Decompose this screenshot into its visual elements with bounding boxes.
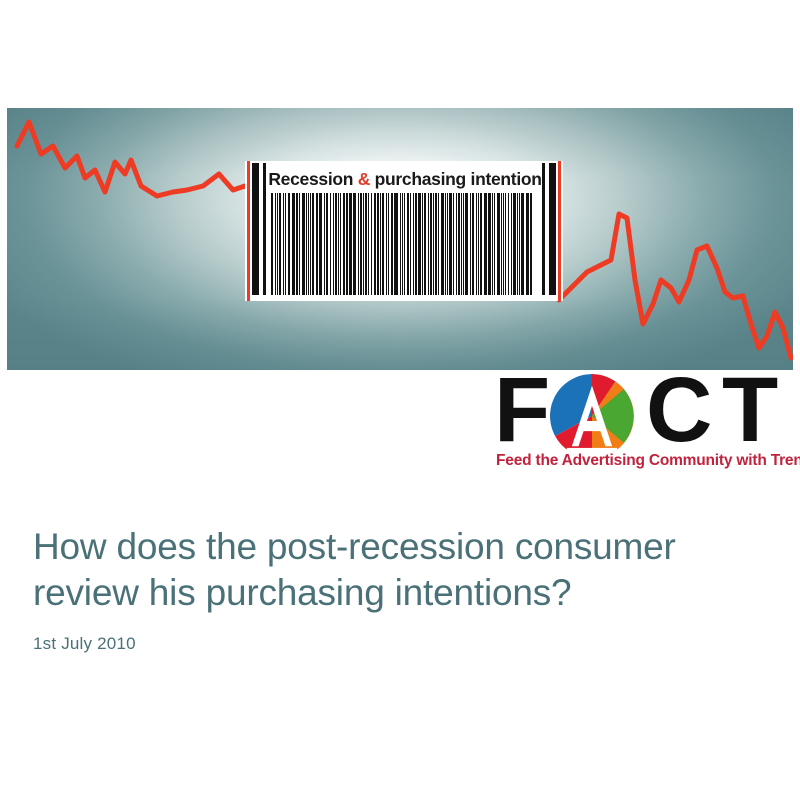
barcode-bar [456, 193, 457, 295]
barcode-bar [492, 193, 493, 295]
barcode-bar [517, 193, 518, 295]
barcode-bar [418, 193, 421, 295]
barcode-bar [293, 193, 295, 295]
barcode-bar [277, 193, 278, 295]
barcode-bar [382, 193, 384, 295]
barcode-bar [435, 193, 437, 295]
barcode-bars [271, 193, 537, 295]
barcode-bar [519, 193, 520, 295]
barcode-bar [488, 193, 491, 295]
barcode-bar [292, 193, 293, 295]
fact-wordmark: F C T [494, 370, 794, 450]
barcode-bar [527, 193, 529, 295]
barcode-caption: Recession & purchasing intention [267, 166, 543, 192]
fact-letter-c: C [646, 364, 710, 456]
recession-banner: Recession & purchasing intention [7, 108, 793, 370]
barcode-bar [283, 193, 284, 295]
barcode-bar [402, 193, 403, 295]
fact-a-circle-mark [550, 374, 634, 458]
barcode-bar [285, 193, 286, 295]
barcode-bar [330, 193, 331, 295]
barcode-bar [465, 193, 468, 295]
barcode-bar [400, 193, 401, 295]
barcode-bar [324, 193, 325, 295]
barcode-bar [497, 193, 499, 295]
barcode-bar [433, 193, 434, 295]
barcode-bar [458, 193, 460, 295]
barcode-bar [470, 193, 471, 295]
barcode-bar [368, 193, 369, 295]
barcode-guard-left [252, 163, 259, 295]
barcode-bar [299, 193, 300, 295]
barcode-bar [319, 193, 320, 295]
barcode-bar [335, 193, 337, 295]
barcode-bar [503, 193, 504, 295]
fact-tagline: Feed the Advertising Community with Tren… [496, 452, 800, 470]
barcode-bar [480, 193, 482, 295]
barcode-caption-suffix: purchasing intention [370, 169, 542, 189]
barcode-bar [338, 193, 339, 295]
barcode-bar [395, 193, 398, 295]
barcode-bar [441, 193, 444, 295]
barcode-bar [302, 193, 305, 295]
barcode-bar [410, 193, 411, 295]
barcode-bar [271, 193, 273, 295]
barcode-bar [428, 193, 429, 295]
barcode-bar [374, 193, 377, 295]
barcode-graphic: Recession & purchasing intention [245, 161, 563, 301]
barcode-bar [343, 193, 345, 295]
barcode-bar [447, 193, 448, 295]
title-block: How does the post-recession consumer rev… [33, 524, 753, 655]
fact-letter-f: F [494, 364, 548, 456]
barcode-bar [508, 193, 509, 295]
barcode-bar [360, 193, 362, 295]
barcode-bar [463, 193, 464, 295]
barcode-bar [413, 193, 414, 295]
barcode-bar [275, 193, 276, 295]
barcode-bar [449, 193, 451, 295]
barcode-caption-ampersand: & [358, 169, 370, 189]
barcode-bar [363, 193, 364, 295]
barcode-bar [358, 193, 359, 295]
barcode-bar [513, 193, 516, 295]
barcode-bar [501, 193, 502, 295]
barcode-bar [422, 193, 423, 295]
barcode-bar [485, 193, 486, 295]
barcode-bar [316, 193, 317, 295]
barcode-bar [424, 193, 425, 295]
barcode-bar [349, 193, 352, 295]
barcode-bar [445, 193, 446, 295]
barcode-bar [478, 193, 479, 295]
barcode-bar [438, 193, 439, 295]
trendline-right-path [559, 214, 791, 358]
barcode-bar [511, 193, 512, 295]
barcode-bar [415, 193, 417, 295]
barcode-bar [312, 193, 314, 295]
barcode-bar [526, 193, 527, 295]
barcode-bar [346, 193, 347, 295]
barcode-bar [288, 193, 290, 295]
barcode-bar [505, 193, 507, 295]
barcode-accent-right [558, 161, 561, 301]
barcode-bar [320, 193, 322, 295]
barcode-guard-right [549, 163, 556, 295]
barcode-bar [340, 193, 341, 295]
barcode-bar [333, 193, 334, 295]
barcode-bar [476, 193, 477, 295]
barcode-bar [530, 193, 531, 295]
barcode-bar [365, 193, 367, 295]
page-date: 1st July 2010 [33, 633, 753, 655]
barcode-bar [407, 193, 409, 295]
barcode-bar [296, 193, 297, 295]
barcode-bar [388, 193, 389, 295]
fact-letter-t: T [722, 364, 776, 456]
barcode-bar [377, 193, 378, 295]
barcode-bar [380, 193, 381, 295]
barcode-bar [326, 193, 329, 295]
barcode-bar [453, 193, 454, 295]
barcode-bar [279, 193, 281, 295]
barcode-bar [353, 193, 354, 295]
barcode-bar [461, 193, 462, 295]
barcode-bar [494, 193, 495, 295]
barcode-bar [371, 193, 372, 295]
barcode-bar [394, 193, 395, 295]
barcode-bar [472, 193, 474, 295]
barcode-bar [354, 193, 355, 295]
barcode-bar [521, 193, 523, 295]
fact-logo: F C T Feed the Advertising Community wit… [494, 370, 794, 482]
barcode-bar [430, 193, 432, 295]
page-title: How does the post-recession consumer rev… [33, 524, 753, 616]
barcode-bar [404, 193, 405, 295]
barcode-bar [391, 193, 393, 295]
barcode-bar [484, 193, 485, 295]
barcode-bar [308, 193, 309, 295]
barcode-caption-prefix: Recession [268, 169, 357, 189]
barcode-bar [386, 193, 387, 295]
barcode-bar [310, 193, 311, 295]
barcode-accent-left [247, 161, 250, 301]
barcode-guard-left-thin [263, 163, 266, 295]
barcode-bar [306, 193, 307, 295]
